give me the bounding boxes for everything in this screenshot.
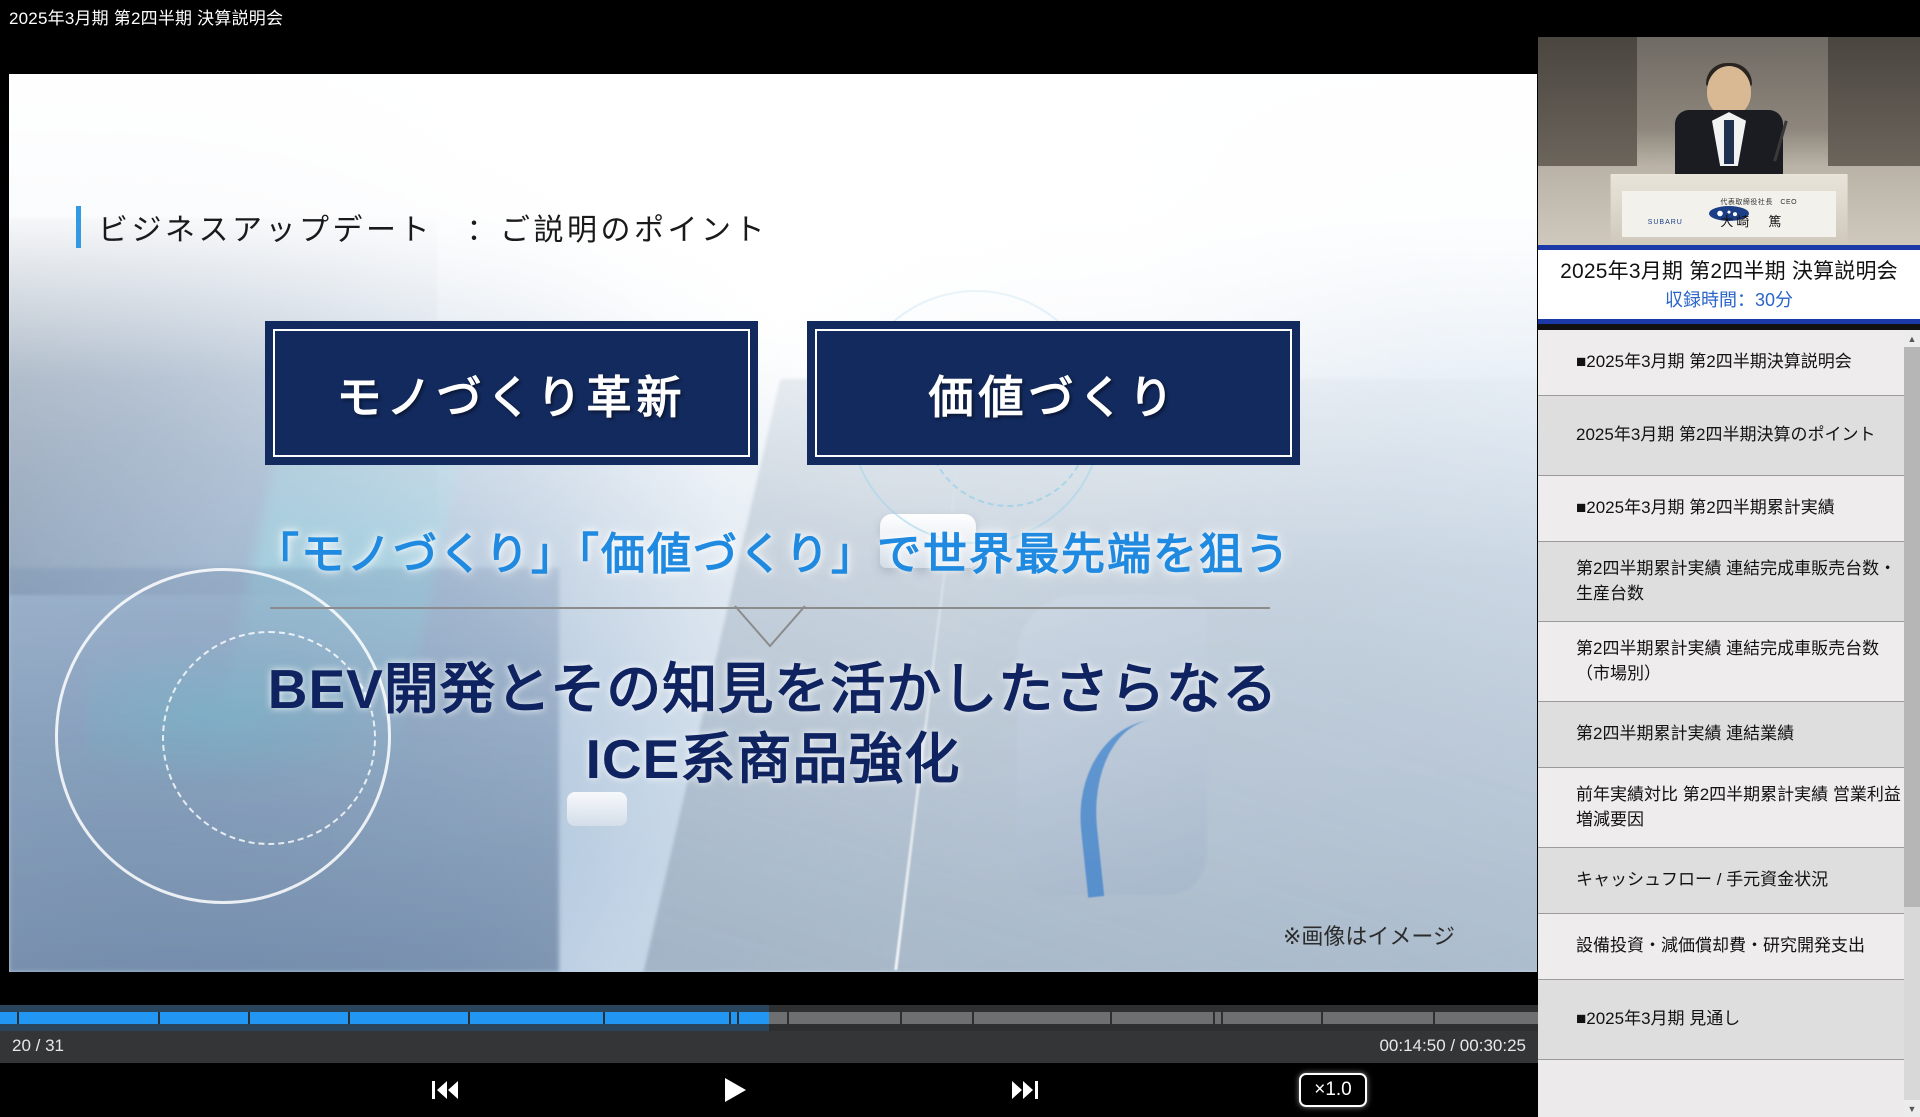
chapter-list-item-label: キャッシュフロー / 手元資金状況 (1576, 868, 1828, 893)
chapter-list-item[interactable]: ■2025年3月期 第2四半期累計実績 (1538, 476, 1920, 542)
seek-chapter-tick (737, 1012, 739, 1024)
playback-speed-label: ×1.0 (1299, 1073, 1367, 1107)
seek-chapter-tick (1321, 1012, 1323, 1024)
chapter-list-item[interactable]: 第2四半期累計実績 連結業績 (1538, 702, 1920, 768)
page-indicator: 20 / 31 (12, 1036, 64, 1056)
concept-box-label: 価値づくり (928, 361, 1178, 426)
chapter-list[interactable]: ■2025年3月期 第2四半期決算説明会2025年3月期 第2四半期決算のポイン… (1538, 330, 1920, 1117)
seek-played (0, 1012, 769, 1024)
concept-boxes: モノづくり革新 価値づくり (265, 321, 1300, 465)
seek-chapter-tick (248, 1012, 250, 1024)
video-player-app: 2025年3月期 第2四半期 決算説明会 (0, 0, 1920, 1080)
chapter-header-title: 2025年3月期 第2四半期 決算説明会 (1542, 255, 1916, 285)
scrollbar-thumb[interactable] (1904, 347, 1920, 907)
presenter-video[interactable]: SUBARU 代表取締役社長 CEO 大崎 篤 (1538, 37, 1920, 245)
slide-heading-text: ビジネスアップデート ：ご説明のポイント (98, 205, 768, 249)
playback-speed-button[interactable]: ×1.0 (1288, 1063, 1378, 1117)
slide-key-message-line1: BEV開発とその知見を活かしたさらなる (9, 654, 1537, 724)
player-meta-row: 20 / 31 00:14:50 / 00:30:25 (0, 1031, 1538, 1063)
chapter-header-duration: 収録時間：30分 (1542, 286, 1916, 312)
chapter-list-item-label: 第2四半期累計実績 連結業績 (1576, 722, 1794, 747)
seek-chapter-tick (17, 1012, 19, 1024)
chapter-list-item-label: 2025年3月期 第2四半期決算のポイント (1576, 423, 1875, 448)
slide-key-message: BEV開発とその知見を活かしたさらなる ICE系商品強化 (9, 654, 1537, 795)
heading-accent-bar (76, 206, 81, 248)
nameplate-role: 代表取締役社長 CEO (1720, 197, 1797, 207)
concept-box-monozukuri: モノづくり革新 (265, 321, 758, 465)
player-controls: 20 / 31 00:14:50 / 00:30:25 (0, 1005, 1538, 1117)
presentation-slide: ビジネスアップデート ：ご説明のポイント モノづくり革新 価値づくり 「モノづ (9, 74, 1537, 972)
scroll-up-button[interactable]: ▲ (1904, 330, 1920, 347)
seek-chapter-tick (1213, 1012, 1215, 1024)
slide-key-message-line2: ICE系商品強化 (9, 724, 1537, 794)
chapter-list-item-label: 前年実績対比 第2四半期累計実績 営業利益増減要因 (1576, 783, 1906, 832)
nameplate-brand: SUBARU (1648, 219, 1683, 226)
play-icon (722, 1077, 748, 1103)
concept-box-kachizukuri: 価値づくり (807, 321, 1300, 465)
scroll-down-button[interactable]: ▼ (1904, 1100, 1920, 1117)
player-button-row: ×1.0 (0, 1063, 1538, 1117)
seek-chapter-tick (1110, 1012, 1112, 1024)
chapter-list-item[interactable]: 設備投資・減価償却費・研究開発支出 (1538, 914, 1920, 980)
seek-chapter-tick (348, 1012, 350, 1024)
play-button[interactable] (700, 1063, 770, 1117)
seek-chapter-tick (972, 1012, 974, 1024)
next-button[interactable] (990, 1063, 1060, 1117)
right-panel: SUBARU 代表取締役社長 CEO 大崎 篤 2025年3月期 第2四半期 決… (1538, 37, 1920, 1080)
chapter-list-item[interactable]: ■2025年3月期 第2四半期決算説明会 (1538, 330, 1920, 396)
window-title: 2025年3月期 第2四半期 決算説明会 (9, 9, 283, 28)
slide-heading: ビジネスアップデート ：ご説明のポイント (76, 205, 768, 249)
chapter-list-item-label: ■2025年3月期 第2四半期決算説明会 (1576, 350, 1852, 375)
slide-stage[interactable]: ビジネスアップデート ：ご説明のポイント モノづくり革新 価値づくり 「モノづ (0, 37, 1538, 968)
chapter-list-item[interactable]: 第2四半期累計実績 連結完成車販売台数（市場別） (1538, 622, 1920, 702)
skip-forward-icon (1011, 1078, 1039, 1102)
chapter-list-item[interactable]: キャッシュフロー / 手元資金状況 (1538, 848, 1920, 914)
seek-bar[interactable] (0, 1005, 1538, 1031)
chapter-list-item[interactable]: ■2025年3月期 見通し (1538, 980, 1920, 1060)
chapter-list-item-label: 第2四半期累計実績 連結完成車販売台数（市場別） (1576, 637, 1906, 686)
chapter-list-item-label: ■2025年3月期 見通し (1576, 1007, 1740, 1032)
chapter-list-item[interactable]: 第2四半期累計実績 連結完成車販売台数・生産台数 (1538, 542, 1920, 622)
chapter-list-header: 2025年3月期 第2四半期 決算説明会 収録時間：30分 (1538, 245, 1920, 324)
time-indicator: 00:14:50 / 00:30:25 (1379, 1036, 1526, 1056)
seek-chapter-tick (787, 1012, 789, 1024)
seek-chapter-tick (1221, 1012, 1223, 1024)
chevron-divider (270, 607, 1270, 647)
chapter-list-item-label: ■2025年3月期 第2四半期累計実績 (1576, 496, 1835, 521)
slide-headline: 「モノづくり」「価値づくり」で世界最先端を狙う (9, 518, 1537, 582)
image-disclaimer-note: ※画像はイメージ (1283, 919, 1455, 951)
chapter-list-item[interactable]: 前年実績対比 第2四半期累計実績 営業利益増減要因 (1538, 768, 1920, 848)
presenter-nameplate: SUBARU 代表取締役社長 CEO 大崎 篤 (1622, 191, 1836, 237)
seek-chapter-tick (900, 1012, 902, 1024)
chapter-list-scrollbar[interactable]: ▲ ▼ (1904, 330, 1920, 1117)
seek-chapter-tick (1433, 1012, 1435, 1024)
chapter-list-item-label: 第2四半期累計実績 連結完成車販売台数・生産台数 (1576, 557, 1906, 606)
previous-button[interactable] (410, 1063, 480, 1117)
concept-box-label: モノづくり革新 (336, 361, 686, 426)
seek-chapter-tick (468, 1012, 470, 1024)
chapter-list-item-label: 設備投資・減価償却費・研究開発支出 (1576, 934, 1865, 959)
skip-back-icon (431, 1078, 459, 1102)
window-title-bar: 2025年3月期 第2四半期 決算説明会 (0, 0, 1920, 37)
seek-chapter-tick (729, 1012, 731, 1024)
seek-chapter-tick (603, 1012, 605, 1024)
chevron-down-icon (735, 606, 805, 648)
seek-chapter-tick (158, 1012, 160, 1024)
nameplate-name: 大崎 篤 (1720, 211, 1784, 230)
chapter-list-item[interactable]: 2025年3月期 第2四半期決算のポイント (1538, 396, 1920, 476)
